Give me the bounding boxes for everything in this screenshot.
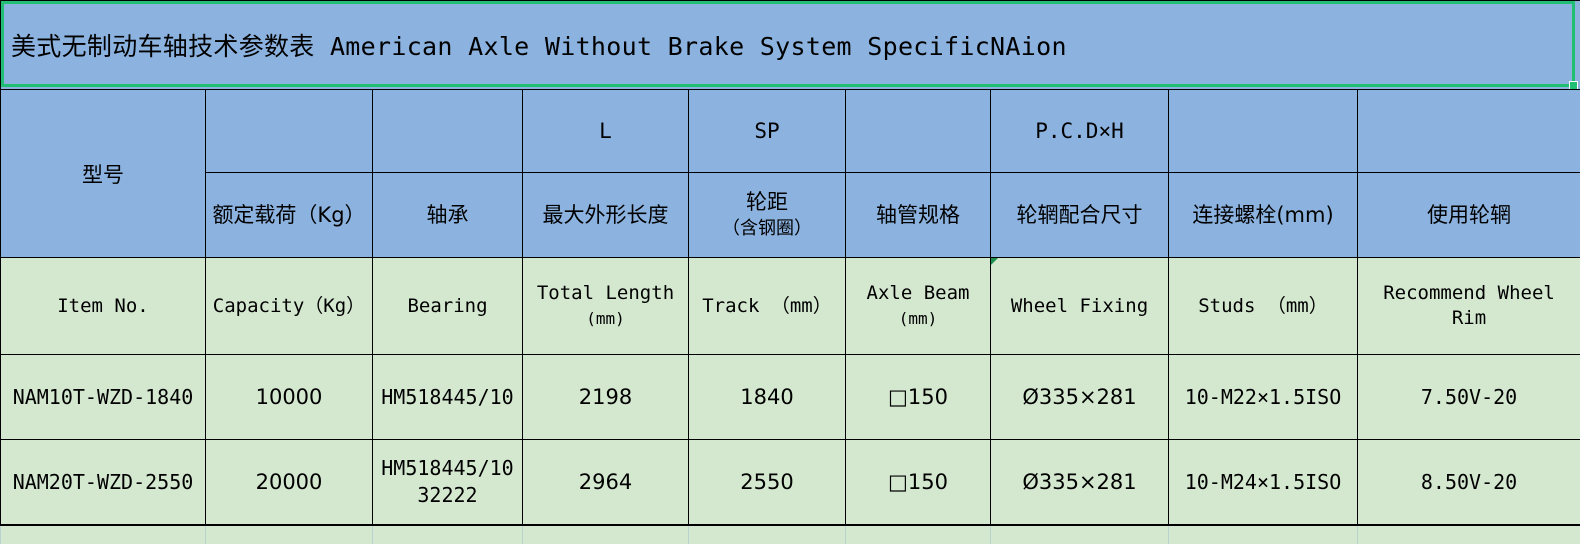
- header-row-en: Item No. Capacity（Kg） Bearing Total Leng…: [1, 258, 1580, 355]
- header-axlebeam-en-line1: Axle Beam: [867, 282, 970, 304]
- cell-empty[interactable]: [206, 525, 373, 544]
- header-capacity-cn: 额定载荷（Kg）: [206, 173, 373, 258]
- header-length-symbol: L: [523, 90, 689, 173]
- cell-track[interactable]: 2550: [689, 440, 846, 526]
- cell-bearing-line2: 32222: [417, 483, 477, 507]
- header-model-en: Item No.: [1, 258, 206, 355]
- header-axlebeam-en-line2: (mm): [899, 309, 938, 328]
- header-track-symbol: SP: [689, 90, 846, 173]
- header-studs-en: Studs （mm）: [1169, 258, 1358, 355]
- header-track-cn-line1: 轮距: [746, 190, 788, 214]
- header-length-en-line1: Total Length: [537, 282, 674, 304]
- cell-length[interactable]: 2198: [523, 355, 689, 440]
- table-row-partial[interactable]: [1, 525, 1580, 544]
- cell-rim[interactable]: 7.50V-20: [1358, 355, 1580, 440]
- table-title: 美式无制动车轴技术参数表 American Axle Without Brake…: [11, 32, 1067, 61]
- cell-axle-beam[interactable]: □150: [846, 355, 991, 440]
- cell-track[interactable]: 1840: [689, 355, 846, 440]
- title-cell[interactable]: 美式无制动车轴技术参数表 American Axle Without Brake…: [1, 1, 1580, 90]
- cell-bearing-line1: HM518445/10: [381, 456, 513, 480]
- cell-studs[interactable]: 10-M24×1.5ISO: [1169, 440, 1358, 526]
- cell-length[interactable]: 2964: [523, 440, 689, 526]
- cell-note-marker: [991, 258, 998, 265]
- header-wheelfixing-en-label: Wheel Fixing: [1011, 295, 1148, 317]
- cell-empty[interactable]: [1, 525, 206, 544]
- header-capacity-cn-top: [206, 90, 373, 173]
- header-bearing-cn-top: [373, 90, 523, 173]
- cell-empty[interactable]: [373, 525, 523, 544]
- header-track-cn: 轮距 （含钢圈）: [689, 173, 846, 258]
- cell-capacity[interactable]: 20000: [206, 440, 373, 526]
- table-row[interactable]: NAM10T-WZD-1840 10000 HM518445/10 2198 1…: [1, 355, 1580, 440]
- cell-model[interactable]: NAM10T-WZD-1840: [1, 355, 206, 440]
- header-axlebeam-cn: 轴管规格: [846, 173, 991, 258]
- cell-axle-beam[interactable]: □150: [846, 440, 991, 526]
- cell-model[interactable]: NAM20T-WZD-2550: [1, 440, 206, 526]
- cell-bearing[interactable]: HM518445/10: [373, 355, 523, 440]
- header-track-en: Track （mm）: [689, 258, 846, 355]
- header-row-cn-bottom: 额定载荷（Kg） 轴承 最大外形长度 轮距 （含钢圈） 轴管规格 轮辋配合尺寸 …: [1, 173, 1580, 258]
- header-axlebeam-cn-top: [846, 90, 991, 173]
- cell-empty[interactable]: [689, 525, 846, 544]
- header-track-cn-line2: （含钢圈）: [722, 218, 812, 239]
- cell-wheel-fixing[interactable]: Ø335×281: [991, 355, 1169, 440]
- cell-capacity[interactable]: 10000: [206, 355, 373, 440]
- title-row: 美式无制动车轴技术参数表 American Axle Without Brake…: [1, 1, 1580, 90]
- spreadsheet-canvas: 美式无制动车轴技术参数表 American Axle Without Brake…: [0, 0, 1580, 537]
- fill-handle[interactable]: [1569, 81, 1578, 90]
- header-axlebeam-en: Axle Beam (mm): [846, 258, 991, 355]
- header-rim-en-line1: Recommend Wheel: [1383, 282, 1555, 304]
- cell-empty[interactable]: [1358, 525, 1580, 544]
- header-capacity-en: Capacity（Kg）: [206, 258, 373, 355]
- header-rim-en-line2: Rim: [1452, 307, 1486, 329]
- header-length-en-line2: (mm): [586, 309, 625, 328]
- cell-empty[interactable]: [523, 525, 689, 544]
- header-studs-cn-top: [1169, 90, 1358, 173]
- header-studs-cn: 连接螺栓(mm): [1169, 173, 1358, 258]
- cell-wheel-fixing[interactable]: Ø335×281: [991, 440, 1169, 526]
- header-row-cn-top: 型号 L SP P.C.D×H: [1, 90, 1580, 173]
- header-wheelfixing-symbol: P.C.D×H: [991, 90, 1169, 173]
- header-length-cn: 最大外形长度: [523, 173, 689, 258]
- header-bearing-en: Bearing: [373, 258, 523, 355]
- cell-studs[interactable]: 10-M22×1.5ISO: [1169, 355, 1358, 440]
- cell-bearing-line1: HM518445/10: [381, 385, 513, 409]
- header-rim-cn-top: [1358, 90, 1580, 173]
- cell-empty[interactable]: [846, 525, 991, 544]
- cell-rim[interactable]: 8.50V-20: [1358, 440, 1580, 526]
- header-bearing-cn: 轴承: [373, 173, 523, 258]
- header-wheelfixing-en: Wheel Fixing: [991, 258, 1169, 355]
- header-model-cn: 型号: [1, 90, 206, 258]
- cell-bearing[interactable]: HM518445/10 32222: [373, 440, 523, 526]
- table-row[interactable]: NAM20T-WZD-2550 20000 HM518445/10 32222 …: [1, 440, 1580, 526]
- header-wheelfixing-cn: 轮辋配合尺寸: [991, 173, 1169, 258]
- header-rim-en: Recommend Wheel Rim: [1358, 258, 1580, 355]
- specification-table: 美式无制动车轴技术参数表 American Axle Without Brake…: [0, 0, 1580, 544]
- cell-empty[interactable]: [1169, 525, 1358, 544]
- header-length-en: Total Length (mm): [523, 258, 689, 355]
- cell-empty[interactable]: [991, 525, 1169, 544]
- header-rim-cn: 使用轮辋: [1358, 173, 1580, 258]
